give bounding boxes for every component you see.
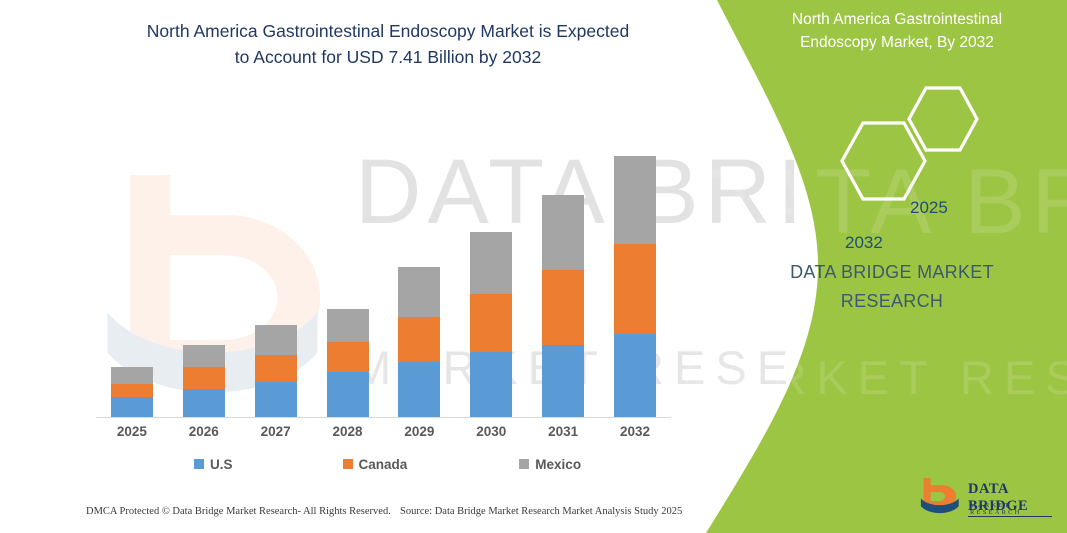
- x-label-2027: 2027: [245, 424, 307, 446]
- stacked-bar: [111, 367, 153, 417]
- x-label-2030: 2030: [460, 424, 522, 446]
- legend-swatch-us: [194, 459, 204, 469]
- bar-column-2032: [604, 120, 666, 417]
- footer-copyright: DMCA Protected © Data Bridge Market Rese…: [86, 506, 391, 517]
- legend-item-canada[interactable]: Canada: [343, 457, 408, 472]
- x-axis-line: [96, 417, 671, 418]
- x-label-2028: 2028: [317, 424, 379, 446]
- bar-column-2029: [388, 120, 450, 417]
- bar-segment-us-2031: [542, 345, 584, 417]
- bar-segment-us-2030: [470, 352, 512, 417]
- bar-segment-mexico-2028: [327, 309, 369, 342]
- chart-legend: U.S Canada Mexico: [96, 453, 671, 475]
- chart-plot-area: [96, 120, 671, 418]
- x-axis-labels: 20252026202720282029203020312032: [96, 424, 671, 446]
- stacked-bar: [255, 325, 297, 417]
- x-label-2029: 2029: [388, 424, 450, 446]
- hexagon-label-2025: 2025: [910, 198, 948, 218]
- legend-label-mexico: Mexico: [535, 457, 581, 472]
- bar-segment-canada-2028: [327, 342, 369, 372]
- hexagon-label-2032: 2032: [845, 233, 883, 253]
- bar-segment-canada-2026: [183, 367, 225, 389]
- legend-item-us[interactable]: U.S: [194, 457, 233, 472]
- bar-column-2026: [173, 120, 235, 417]
- page-title-line-2: to Account for USD 7.41 Billion by 2032: [78, 44, 698, 70]
- stacked-bar: [470, 232, 512, 417]
- infographic-canvas: DATA BRIDGE MARKET RESEARCH North Americ…: [0, 0, 1067, 533]
- bar-segment-canada-2027: [255, 355, 297, 382]
- x-label-2026: 2026: [173, 424, 235, 446]
- stacked-bar: [398, 267, 440, 417]
- bar-column-2027: [245, 120, 307, 417]
- hexagon-outlines: [712, 75, 1067, 205]
- bar-segment-canada-2029: [398, 317, 440, 362]
- chart-bars: [96, 120, 671, 417]
- footer-source: Source: Data Bridge Market Research Mark…: [400, 506, 682, 517]
- bar-segment-mexico-2025: [111, 367, 153, 384]
- bar-segment-canada-2032: [614, 244, 656, 334]
- legend-label-canada: Canada: [359, 457, 408, 472]
- panel-brand: DATA BRIDGE MARKET RESEARCH: [742, 258, 1042, 316]
- x-label-2031: 2031: [532, 424, 594, 446]
- hexagon-2025-shape: [909, 88, 977, 150]
- panel-title-line-2: Endoscopy Market, By 2032: [752, 31, 1042, 54]
- bar-segment-canada-2025: [111, 384, 153, 397]
- stacked-bar-chart: [96, 120, 671, 420]
- panel-title: North America Gastrointestinal Endoscopy…: [752, 8, 1042, 54]
- bar-segment-mexico-2030: [470, 232, 512, 294]
- stacked-bar: [614, 156, 656, 417]
- legend-item-mexico[interactable]: Mexico: [519, 457, 581, 472]
- bar-segment-us-2025: [111, 397, 153, 417]
- bar-segment-us-2028: [327, 372, 369, 417]
- legend-swatch-mexico: [519, 459, 529, 469]
- bar-segment-canada-2031: [542, 270, 584, 345]
- databridge-logo: DATA BRIDGE MARKET RESEARCH: [920, 476, 1052, 518]
- hexagon-2032-shape: [842, 123, 925, 199]
- bar-segment-mexico-2029: [398, 267, 440, 317]
- logo-tagline: MARKET RESEARCH: [970, 502, 1052, 516]
- bar-segment-us-2032: [614, 334, 656, 417]
- bar-segment-canada-2030: [470, 294, 512, 352]
- stacked-bar: [542, 195, 584, 417]
- bar-segment-us-2026: [183, 389, 225, 417]
- green-watermark-line-2: MARKET RESEARCH: [682, 350, 1067, 405]
- stacked-bar: [327, 309, 369, 417]
- stacked-bar: [183, 345, 225, 417]
- footer: DMCA Protected © Data Bridge Market Rese…: [0, 506, 700, 526]
- databridge-b-icon: [920, 477, 964, 517]
- bar-segment-mexico-2032: [614, 156, 656, 244]
- page-title-line-1: North America Gastrointestinal Endoscopy…: [78, 18, 698, 44]
- panel-brand-line-1: DATA BRIDGE MARKET: [742, 258, 1042, 287]
- hexagon-badges: 2032 2025: [712, 75, 1067, 205]
- x-label-2032: 2032: [604, 424, 666, 446]
- bar-segment-mexico-2031: [542, 195, 584, 270]
- bar-segment-mexico-2026: [183, 345, 225, 367]
- bar-column-2025: [101, 120, 163, 417]
- bar-column-2028: [317, 120, 379, 417]
- bar-column-2031: [532, 120, 594, 417]
- bar-segment-mexico-2027: [255, 325, 297, 355]
- legend-label-us: U.S: [210, 457, 233, 472]
- panel-title-line-1: North America Gastrointestinal: [752, 8, 1042, 31]
- green-panel-content: DATA BRIDGE MARKET RESEARCH North Americ…: [712, 0, 1067, 533]
- bar-segment-us-2029: [398, 362, 440, 417]
- bar-segment-us-2027: [255, 382, 297, 417]
- legend-swatch-canada: [343, 459, 353, 469]
- page-title: North America Gastrointestinal Endoscopy…: [78, 18, 698, 70]
- panel-brand-line-2: RESEARCH: [742, 287, 1042, 316]
- x-label-2025: 2025: [101, 424, 163, 446]
- bar-column-2030: [460, 120, 522, 417]
